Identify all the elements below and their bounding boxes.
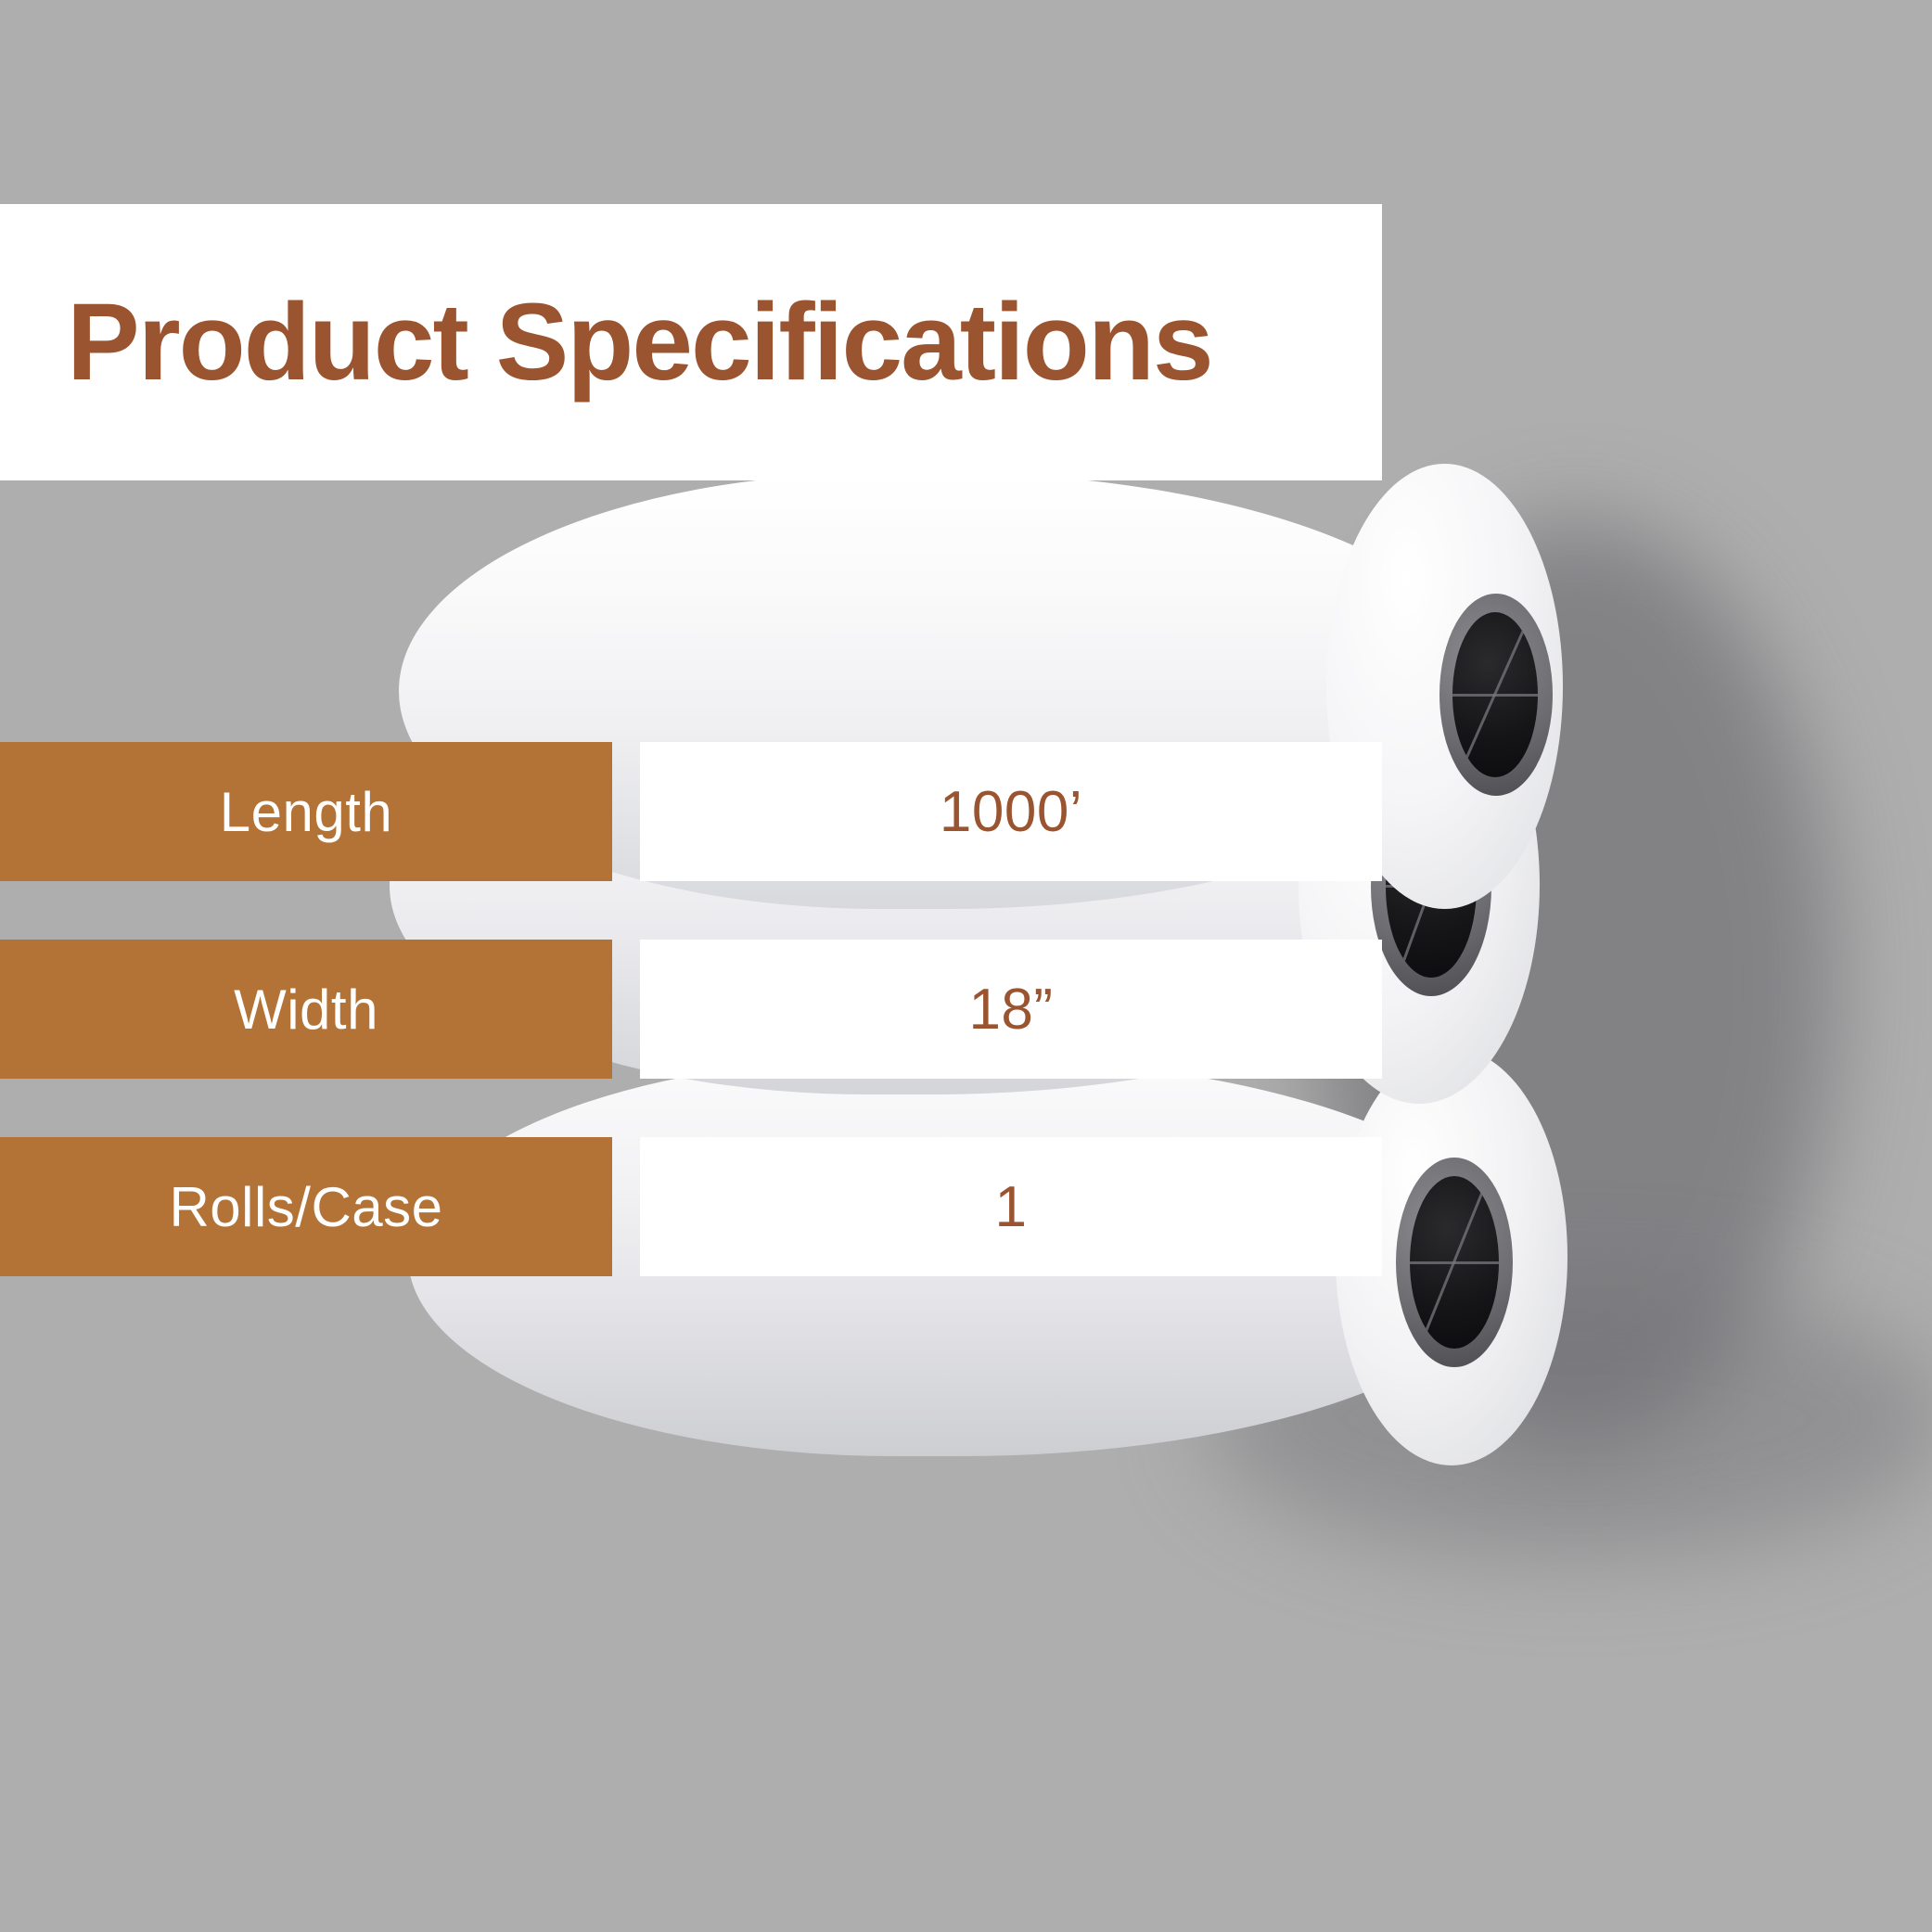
spec-label-rolls-per-case: Rolls/Case (0, 1137, 612, 1276)
title-banner: Product Specifications (0, 204, 1382, 480)
spec-value-rolls-per-case: 1 (640, 1137, 1382, 1276)
table-row: Rolls/Case 1 (0, 1137, 1382, 1276)
paper-roll-top-core (1452, 612, 1538, 777)
product-spec-card: Product Specifications Length 1000’ Widt… (0, 0, 1932, 1932)
paper-roll-bottom-core (1410, 1176, 1499, 1349)
table-row: Width 18” (0, 940, 1382, 1079)
table-row: Length 1000’ (0, 742, 1382, 881)
spec-value-width: 18” (640, 940, 1382, 1079)
page-title: Product Specifications (67, 288, 1212, 397)
spec-label-length: Length (0, 742, 612, 881)
specifications-table: Length 1000’ Width 18” Rolls/Case 1 (0, 742, 1382, 1335)
spec-value-length: 1000’ (640, 742, 1382, 881)
spec-label-width: Width (0, 940, 612, 1079)
